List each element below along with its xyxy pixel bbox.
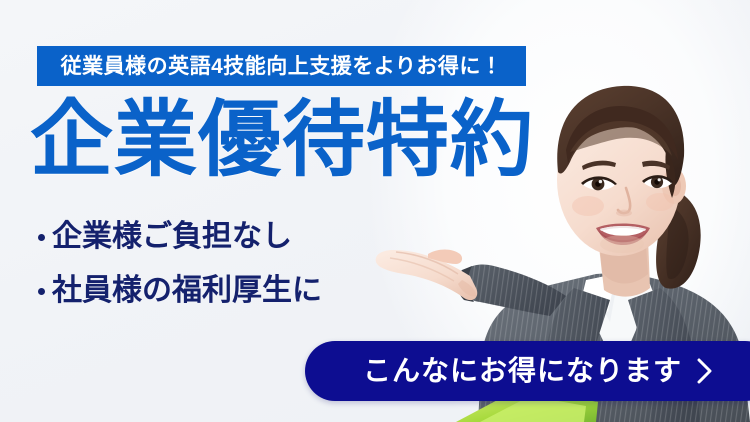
page-title: 企業優待特約 [30, 98, 534, 181]
list-item: 企業様ご負担なし [38, 222, 322, 252]
chevron-right-icon [696, 357, 714, 385]
eyebrow-text: 従業員様の英語4技能向上支援をよりお得に！ [61, 56, 503, 77]
list-item-label: 企業様ご負担なし [52, 222, 292, 252]
eyebrow-ribbon: 従業員様の英語4技能向上支援をよりお得に！ [37, 46, 526, 86]
benefit-list: 企業様ご負担なし 社員様の福利厚生に [38, 222, 322, 330]
cta-label: こんなにお得になります [363, 357, 682, 385]
cta-button[interactable]: こんなにお得になります [305, 341, 750, 401]
list-item: 社員様の福利厚生に [38, 276, 322, 306]
list-item-label: 社員様の福利厚生に [52, 276, 322, 306]
promo-banner: 従業員様の英語4技能向上支援をよりお得に！ 企業優待特約 企業様ご負担なし 社員… [0, 0, 750, 422]
bullet-dot-icon [38, 288, 45, 295]
bullet-dot-icon [38, 234, 45, 241]
